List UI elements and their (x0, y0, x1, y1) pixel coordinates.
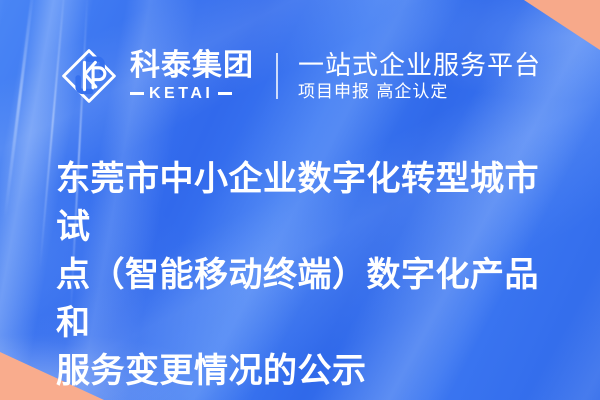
brand-name-en: KETAI (149, 86, 213, 102)
header-divider (276, 53, 278, 99)
announcement-title-line: 服务变更情况的公示 (56, 347, 564, 395)
brand-dash-right (218, 92, 232, 95)
announcement-title-line: 点（智能移动终端）数字化产品和 (56, 251, 564, 347)
announcement-title-line: 东莞市中小企业数字化转型城市试 (56, 155, 564, 251)
brand-name-cn: 科泰集团 (130, 51, 254, 81)
announcement-title: 东莞市中小企业数字化转型城市试 点（智能移动终端）数字化产品和 服务变更情况的公… (56, 155, 564, 395)
brand-lockup: 科泰集团 KETAI (60, 47, 254, 105)
brand-name-en-row: KETAI (130, 86, 254, 102)
ketai-diamond-kp-logo-icon (60, 47, 118, 105)
brand-dash-left (130, 92, 144, 95)
brand-wordmark: 科泰集团 KETAI (130, 51, 254, 102)
slogan-primary: 一站式企业服务平台 (298, 51, 541, 79)
announcement-banner: 科泰集团 KETAI 一站式企业服务平台 项目申报 高企认定 东莞市中小企业数字… (0, 0, 600, 400)
slogan-block: 一站式企业服务平台 项目申报 高企认定 (298, 51, 541, 102)
banner-header: 科泰集团 KETAI 一站式企业服务平台 项目申报 高企认定 (60, 40, 576, 112)
slogan-secondary: 项目申报 高企认定 (298, 83, 541, 102)
